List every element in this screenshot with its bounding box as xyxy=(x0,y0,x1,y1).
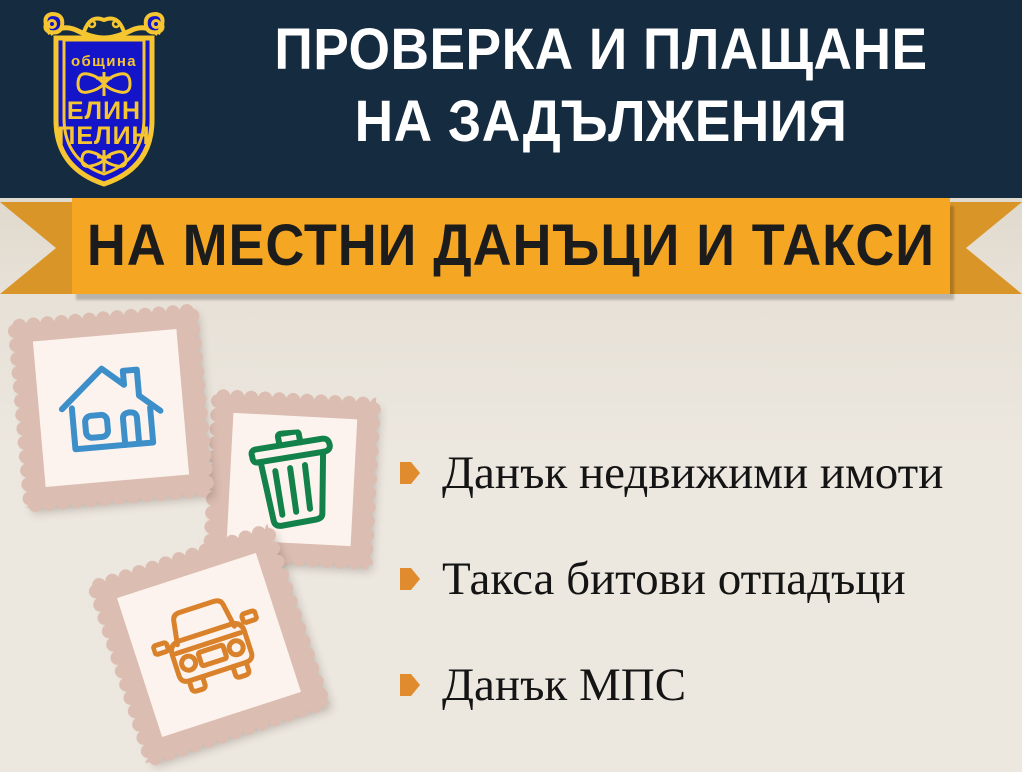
stamp-scallop-left xyxy=(3,324,33,509)
page-title-line-1: ПРОВЕРКА И ПЛАЩАНЕ xyxy=(223,14,979,86)
stamp-scallop-top xyxy=(12,299,195,329)
stamp-scallop-bottom xyxy=(28,487,211,517)
arrow-bullet-icon xyxy=(400,568,420,590)
coat-of-arms-icon: община ЕЛИН ПЕЛИН xyxy=(22,8,186,190)
stamp-face xyxy=(117,553,301,737)
logo-text-obshtina: община xyxy=(71,53,137,70)
page-title: ПРОВЕРКА И ПЛАЩАНЕ НА ЗАДЪЛЖЕНИЯ xyxy=(190,14,1012,158)
tax-type-list: Данък недвижими имоти Такса битови отпад… xyxy=(400,420,1010,738)
stamp-scallop-right xyxy=(363,402,386,566)
stamp-property-tax xyxy=(12,308,209,507)
list-item[interactable]: Данък недвижими имоти xyxy=(400,420,1010,526)
trash-bin-icon xyxy=(241,426,344,532)
ribbon-label: НА МЕСТНИ ДАНЪЦИ И ТАКСИ xyxy=(87,216,935,276)
arrow-bullet-icon xyxy=(400,462,420,484)
car-icon xyxy=(142,584,277,706)
poster-canvas: община ЕЛИН ПЕЛИН ПРОВЕРКА И ПЛАЩАНЕ НА … xyxy=(0,0,1022,772)
logo-text-pelin: ПЕЛИН xyxy=(57,122,150,150)
list-item[interactable]: Данък МПС xyxy=(400,632,1010,738)
list-item[interactable]: Такса битови отпадъци xyxy=(400,526,1010,632)
subtitle-ribbon: НА МЕСТНИ ДАНЪЦИ И ТАКСИ xyxy=(0,198,1022,300)
list-item-label: Данък МПС xyxy=(442,659,686,711)
arrow-bullet-icon xyxy=(400,674,420,696)
stamp-face xyxy=(33,329,189,487)
list-item-label: Данък недвижими имоти xyxy=(442,447,943,499)
stamp-scallop-top xyxy=(216,385,377,407)
ribbon-banner: НА МЕСТНИ ДАНЪЦИ И ТАКСИ xyxy=(72,198,950,294)
header-bar: община ЕЛИН ПЕЛИН ПРОВЕРКА И ПЛАЩАНЕ НА … xyxy=(0,0,1022,198)
page-title-line-2: НА ЗАДЪЛЖЕНИЯ xyxy=(223,86,979,158)
logo-text-elin: ЕЛИН xyxy=(67,97,141,125)
house-icon xyxy=(52,353,170,462)
municipality-logo: община ЕЛИН ПЕЛИН xyxy=(22,8,186,190)
list-item-label: Такса битови отпадъци xyxy=(442,553,906,605)
